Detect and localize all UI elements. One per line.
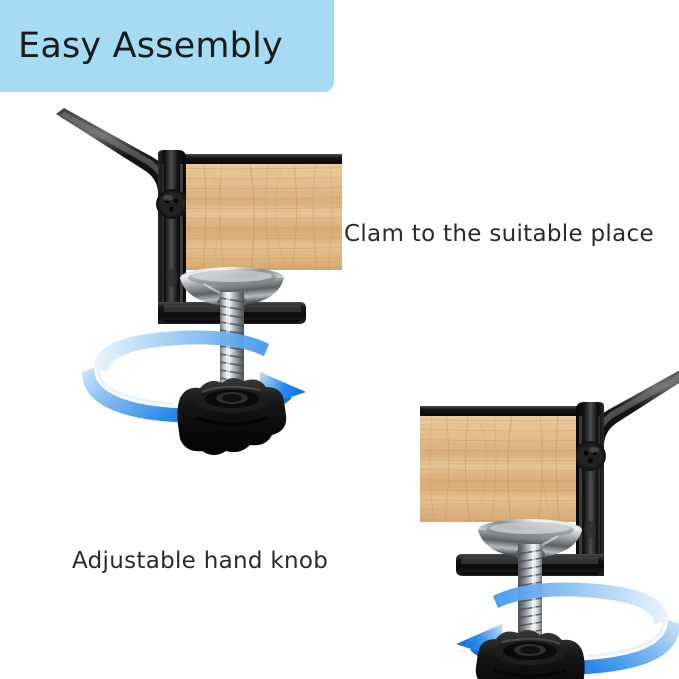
screw-boss (156, 189, 188, 219)
infographic-canvas: Easy Assembly Clam to the suitable place… (0, 0, 679, 679)
clamp-assembly-top-left (54, 106, 344, 426)
desk-top-panel (420, 416, 576, 522)
desk-top-panel (186, 164, 342, 270)
mounting-tube-arm (56, 108, 174, 214)
caption-adjustable-hand-knob: Adjustable hand knob (72, 548, 328, 574)
screw-boss (574, 441, 606, 471)
hand-knob (177, 378, 286, 455)
page-title: Easy Assembly (18, 29, 283, 64)
caption-clamp-to-place: Clam to the suitable place (344, 221, 654, 247)
clamp-assembly-bottom-right (418, 358, 679, 678)
header-banner: Easy Assembly (0, 0, 334, 92)
